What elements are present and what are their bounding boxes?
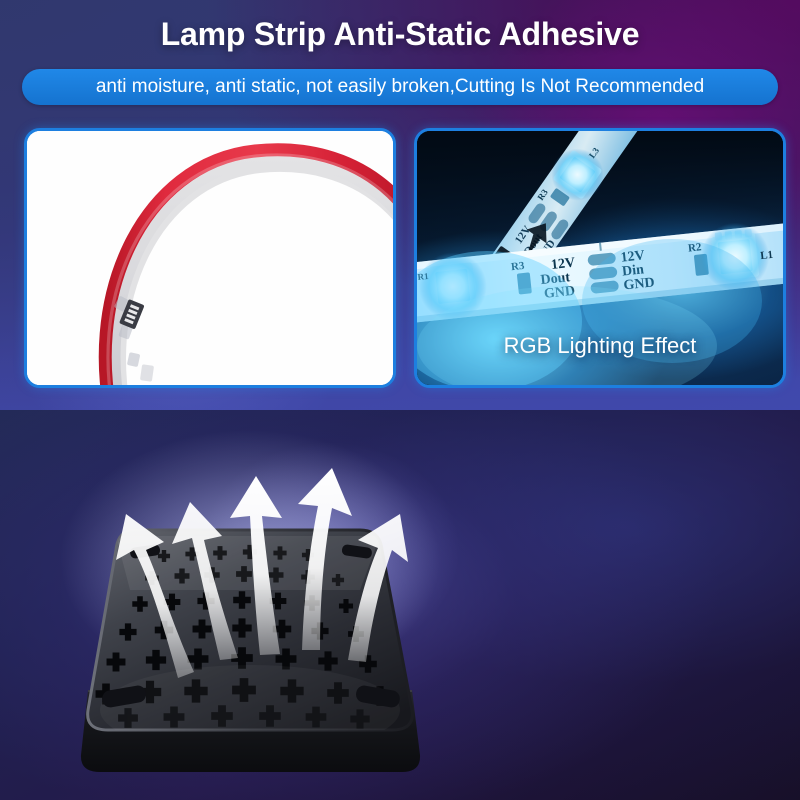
rgb-lighting-photo: 12V Dout GND L3 R3 (417, 131, 783, 385)
led-strip-photo (27, 131, 393, 385)
thermal-device-illustration (60, 410, 530, 800)
panel-led-strip (24, 128, 396, 388)
page-title: Lamp Strip Anti-Static Adhesive (0, 16, 800, 53)
panel-rgb-effect: 12V Dout GND L3 R3 (414, 128, 786, 388)
feature-badge: anti moisture, anti static, not easily b… (22, 69, 778, 105)
radiating-section: Radiating Thermal Design for Longer Life… (0, 410, 800, 800)
rgb-caption: RGB Lighting Effect (417, 333, 783, 359)
pcb-label-l1: L1 (760, 249, 774, 262)
feature-badge-label: anti moisture, anti static, not easily b… (96, 76, 704, 98)
product-infographic: Lamp Strip Anti-Static Adhesive anti moi… (0, 0, 800, 800)
top-section: Lamp Strip Anti-Static Adhesive anti moi… (0, 0, 800, 410)
